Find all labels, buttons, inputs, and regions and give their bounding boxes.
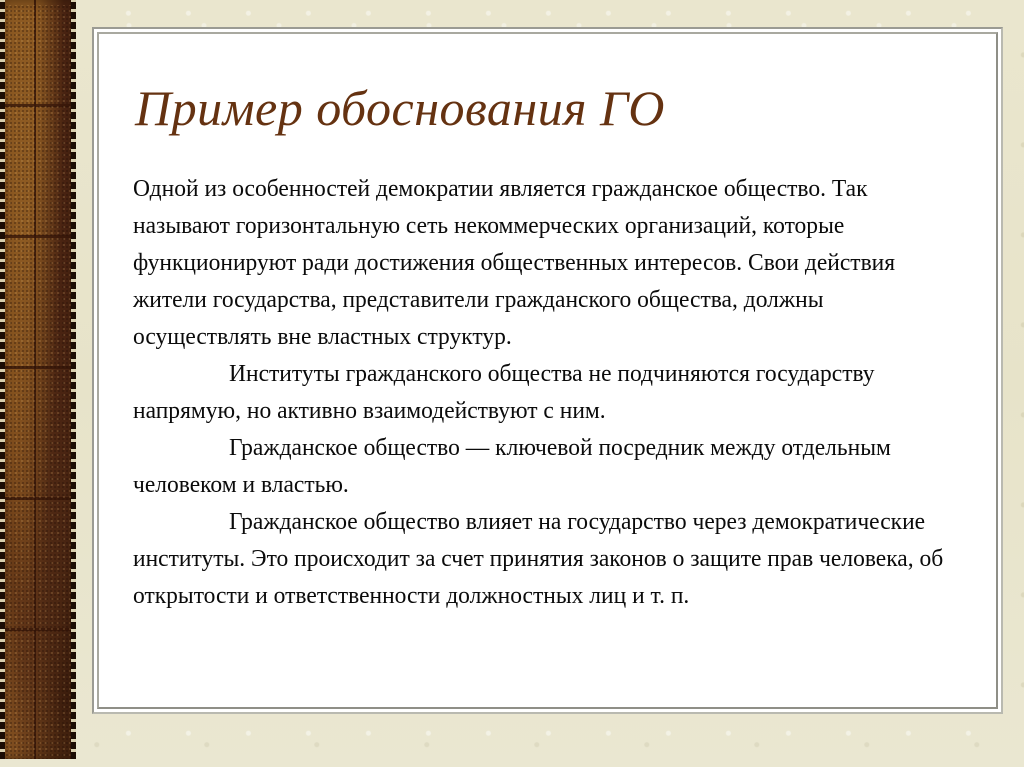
slide-content-panel: Пример обоснования ГО Одной из особеннос… [97,32,998,709]
paragraph-4: Гражданское общество влияет на государст… [133,503,944,614]
decorative-left-border [0,0,76,759]
page-title: Пример обоснования ГО [135,82,975,135]
paragraph-3: Гражданское общество — ключевой посредни… [133,429,944,503]
ribbon-texture-overlay [5,5,71,759]
paragraph-2: Институты гражданского общества не подчи… [133,355,944,429]
slide-content-frame: Пример обоснования ГО Одной из особеннос… [92,27,1003,714]
presentation-slide: Пример обоснования ГО Одной из особеннос… [0,0,1024,767]
slide-body-text: Одной из особенностей демократии являетс… [133,170,978,614]
paragraph-1: Одной из особенностей демократии являетс… [133,170,944,355]
